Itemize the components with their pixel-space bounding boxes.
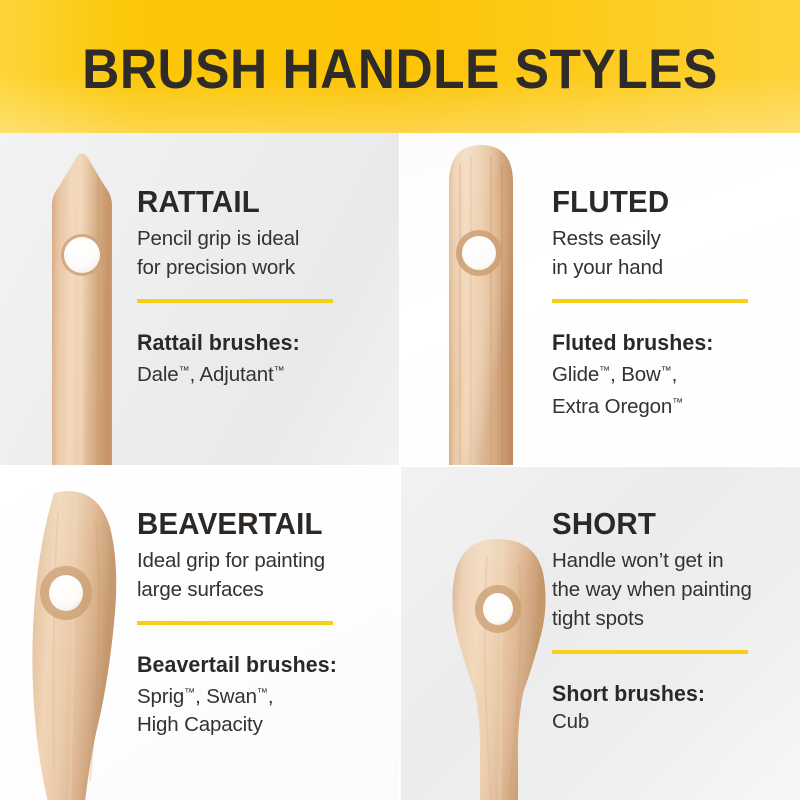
brush-name: Swan <box>206 685 257 708</box>
fluted-handle-illustration <box>429 133 559 465</box>
accent-rule <box>137 299 333 303</box>
short-text-block: SHORT Handle won’t get in the way when p… <box>552 507 792 736</box>
beavertail-hang-hole <box>49 575 83 611</box>
brushes-list-rattail: Dale™, Adjutant™ <box>137 357 387 389</box>
brush-name: Cub <box>552 710 589 733</box>
short-hang-hole <box>483 593 513 625</box>
short-grain-highlight <box>500 547 503 800</box>
short-grain-line <box>485 557 491 799</box>
separator: , <box>268 685 274 708</box>
brush-handle-styles-infographic: BRUSH HANDLE STYLES <box>0 0 800 800</box>
trademark-mark: ™ <box>661 365 672 377</box>
brushes-label-fluted: Fluted brushes: <box>552 330 785 356</box>
desc-line: for precision work <box>137 256 295 279</box>
fluted-hang-hole <box>462 236 496 270</box>
brush-name: High Capacity <box>137 713 263 736</box>
brushes-list-fluted: Glide™, Bow™, Extra Oregon™ <box>552 357 792 421</box>
style-name-fluted: FLUTED <box>552 185 780 219</box>
desc-line: Ideal grip for painting <box>137 549 325 572</box>
separator: , <box>610 363 621 386</box>
brushes-list-beavertail: Sprig™, Swan™, High Capacity <box>137 679 392 739</box>
brush-name: Sprig <box>137 685 184 708</box>
fluted-shading <box>449 145 513 465</box>
fluted-text-block: FLUTED Rests easily in your hand Fluted … <box>552 185 792 421</box>
brush-name: Dale <box>137 363 179 386</box>
trademark-mark: ™ <box>274 365 285 377</box>
style-name-rattail: RATTAIL <box>137 185 375 219</box>
trademark-mark: ™ <box>257 687 268 699</box>
separator: , <box>195 685 206 708</box>
style-name-beavertail: BEAVERTAIL <box>137 507 379 541</box>
page-title: BRUSH HANDLE STYLES <box>32 0 768 133</box>
header-banner: BRUSH HANDLE STYLES <box>0 0 800 133</box>
short-grain-line <box>509 563 521 799</box>
trademark-mark: ™ <box>672 397 683 409</box>
beavertail-grain-line <box>90 523 99 781</box>
trademark-mark: ™ <box>179 365 190 377</box>
style-description-rattail: Pencil grip is ideal for precision work <box>137 224 387 282</box>
separator: , <box>672 363 678 386</box>
desc-line: large surfaces <box>137 578 264 601</box>
rattail-hole-bevel <box>61 234 103 276</box>
short-shading <box>452 539 545 800</box>
beavertail-grain-highlight <box>70 501 76 800</box>
brushes-label-short: Short brushes: <box>552 681 785 707</box>
beavertail-grain-line <box>54 511 59 771</box>
quadrant-beavertail: BEAVERTAIL Ideal grip for painting large… <box>0 467 399 800</box>
style-description-fluted: Rests easily in your hand <box>552 224 792 282</box>
brush-name: Extra Oregon <box>552 395 672 418</box>
rattail-text-block: RATTAIL Pencil grip is ideal for precisi… <box>137 185 387 389</box>
brushes-label-rattail: Rattail brushes: <box>137 330 380 356</box>
brush-name: Bow <box>621 363 660 386</box>
accent-rule <box>137 621 333 625</box>
style-description-beavertail: Ideal grip for painting large surfaces <box>137 546 392 604</box>
beavertail-text-block: BEAVERTAIL Ideal grip for painting large… <box>137 507 392 739</box>
short-hole-countersink <box>475 585 521 633</box>
brush-name: Adjutant <box>200 363 274 386</box>
desc-line: the way when painting <box>552 578 752 601</box>
beavertail-hole-countersink <box>40 566 92 620</box>
desc-line: tight spots <box>552 607 644 630</box>
accent-rule <box>552 650 748 654</box>
beavertail-shading <box>32 491 116 800</box>
trademark-mark: ™ <box>184 687 195 699</box>
accent-rule <box>552 299 748 303</box>
trademark-mark: ™ <box>599 365 610 377</box>
desc-line: Rests easily <box>552 227 661 250</box>
fluted-hole-countersink <box>456 230 502 276</box>
brush-name: Glide <box>552 363 599 386</box>
desc-line: in your hand <box>552 256 663 279</box>
short-body <box>452 539 545 800</box>
desc-line: Pencil grip is ideal <box>137 227 299 250</box>
brushes-label-beavertail: Beavertail brushes: <box>137 652 384 678</box>
separator: , <box>190 363 200 386</box>
rattail-shading <box>52 154 112 466</box>
quadrant-rattail: RATTAIL Pencil grip is ideal for precisi… <box>0 133 399 465</box>
rattail-hang-hole <box>64 237 100 273</box>
quadrant-fluted: FLUTED Rests easily in your hand Fluted … <box>401 133 800 465</box>
brushes-list-short: Cub <box>552 708 792 736</box>
horizontal-divider <box>0 465 800 467</box>
rattail-body <box>52 154 112 466</box>
quadrant-short: SHORT Handle won’t get in the way when p… <box>401 467 800 800</box>
beavertail-body <box>32 491 116 800</box>
desc-line: Handle won’t get in <box>552 549 724 572</box>
style-description-short: Handle won’t get in the way when paintin… <box>552 546 792 633</box>
fluted-body <box>449 145 513 465</box>
style-name-short: SHORT <box>552 507 780 541</box>
